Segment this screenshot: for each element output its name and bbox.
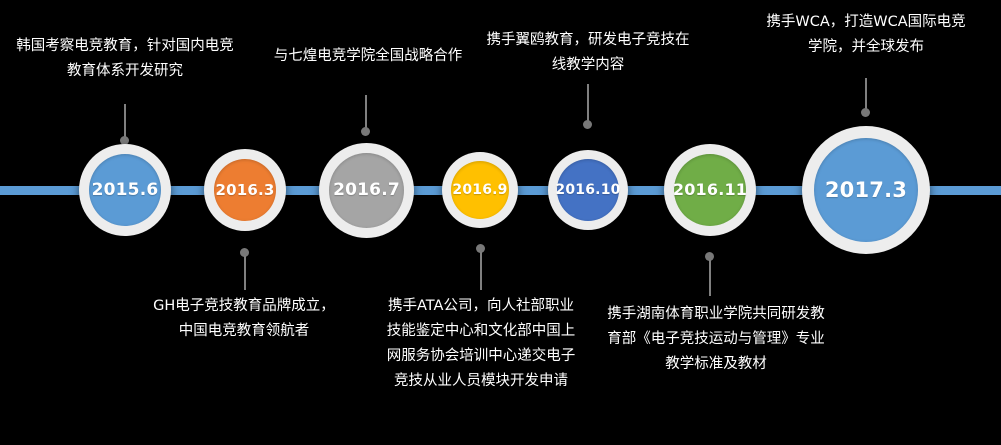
- milestone-node-2016-10[interactable]: 2016.10: [548, 150, 628, 230]
- milestone-node-2016-3[interactable]: 2016.3: [204, 149, 286, 231]
- milestone-label-2016-7: 2016.7: [333, 182, 400, 199]
- milestone-label-2016-11: 2016.11: [673, 182, 747, 198]
- milestone-label-2015-6: 2015.6: [92, 182, 159, 199]
- milestone-caption-1: 韩国考察电竞教育，针对国内电竞教育体系开发研究: [16, 34, 234, 84]
- milestone-node-2016-11[interactable]: 2016.11: [664, 144, 756, 236]
- milestone-label-2016-10: 2016.10: [555, 183, 620, 197]
- milestone-node-2017-3[interactable]: 2017.3: [802, 126, 930, 254]
- connector-dot-3: [361, 127, 370, 136]
- milestone-node-inner-2016-3: 2016.3: [214, 159, 276, 221]
- connector-stem-7: [865, 78, 867, 112]
- connector-stem-2: [244, 256, 246, 290]
- milestone-caption-7: 携手WCA，打造WCA国际电竞学院，并全球发布: [764, 10, 968, 60]
- milestone-node-2016-9[interactable]: 2016.9: [442, 152, 518, 228]
- milestone-caption-3: 与七煌电竞学院全国战略合作: [262, 44, 474, 69]
- milestone-caption-4: 携手ATA公司，向人社部职业技能鉴定中心和文化部中国上网服务协会培训中心递交电子…: [386, 294, 576, 394]
- milestone-label-2016-3: 2016.3: [215, 183, 274, 198]
- milestone-label-2017-3: 2017.3: [825, 180, 907, 201]
- milestone-node-inner-2016-10: 2016.10: [557, 159, 619, 221]
- milestone-node-2015-6[interactable]: 2015.6: [79, 144, 171, 236]
- milestone-node-inner-2017-3: 2017.3: [814, 138, 918, 242]
- milestone-label-2016-9: 2016.9: [452, 183, 507, 197]
- connector-stem-6: [709, 260, 711, 296]
- connector-dot-5: [583, 120, 592, 129]
- milestone-node-inner-2016-11: 2016.11: [674, 154, 746, 226]
- connector-dot-7: [861, 108, 870, 117]
- milestone-caption-2: GH电子竞技教育品牌成立，中国电竞教育领航者: [146, 294, 342, 344]
- connector-stem-4: [480, 252, 482, 290]
- milestone-node-inner-2016-7: 2016.7: [329, 153, 404, 228]
- milestone-caption-5: 携手翼鸥教育，研发电子竞技在线教学内容: [486, 28, 690, 78]
- timeline-infographic: 韩国考察电竞教育，针对国内电竞教育体系开发研究 2015.6 GH电子竞技教育品…: [0, 0, 1001, 445]
- milestone-node-inner-2015-6: 2015.6: [89, 154, 161, 226]
- milestone-node-2016-7[interactable]: 2016.7: [319, 143, 414, 238]
- milestone-node-inner-2016-9: 2016.9: [451, 161, 509, 219]
- milestone-caption-6: 携手湖南体育职业学院共同研发教育部《电子竞技运动与管理》专业教学标准及教材: [607, 302, 825, 377]
- connector-stem-5: [587, 84, 589, 124]
